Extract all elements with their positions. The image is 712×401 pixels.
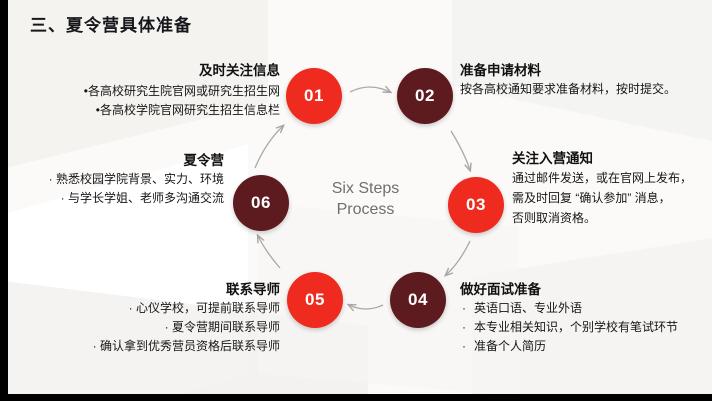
step-block-02: 准备申请材料 按各高校通知要求准备材料，按时提交。 — [460, 62, 710, 99]
step-line: · 与学长学姐、老师多沟通交流 — [14, 189, 224, 208]
step-circle-05[interactable]: 05 — [287, 272, 343, 328]
step-line: •各高校学院官网研究生招生信息栏 — [28, 101, 280, 120]
step-block-05: 联系导师 · 心仪学校，可提前联系导师 · 夏令营期间联系导师 · 确认拿到优秀… — [22, 281, 280, 356]
slide-canvas: 三、夏令营具体准备 Six Steps Process 01 02 03 04 … — [8, 0, 712, 394]
step-heading-06: 夏令营 — [14, 152, 224, 170]
center-label: Six Steps Process — [303, 178, 428, 220]
step-heading-01: 及时关注信息 — [28, 62, 280, 80]
step-heading-02: 准备申请材料 — [460, 62, 710, 80]
step-circle-06[interactable]: 06 — [233, 175, 289, 231]
step-line: · 夏令营期间联系导师 — [22, 318, 280, 337]
step-line: 本专业相关知识，个别学校有笔试环节 — [460, 318, 712, 337]
step-circle-03[interactable]: 03 — [448, 177, 504, 233]
step-heading-04: 做好面试准备 — [460, 281, 712, 299]
step-heading-05: 联系导师 — [22, 281, 280, 299]
step-line: 英语口语、专业外语 — [460, 299, 712, 318]
step-block-01: 及时关注信息 •各高校研究生院官网或研究生招生网 •各高校学院官网研究生招生信息… — [28, 62, 280, 120]
step-line: 通过邮件发送，或在官网上发布， — [512, 168, 712, 188]
slide-title: 三、夏令营具体准备 — [30, 11, 192, 36]
center-label-line2: Process — [303, 199, 428, 220]
step-line: · 确认拿到优秀营员资格后联系导师 — [22, 337, 280, 356]
step-line: · 熟悉校园学院背景、实力、环境 — [14, 170, 224, 189]
step-circle-04[interactable]: 04 — [390, 272, 446, 328]
center-label-line1: Six Steps — [303, 178, 428, 199]
step-line: 准备个人简历 — [460, 337, 712, 356]
step-line: · 心仪学校，可提前联系导师 — [22, 299, 280, 318]
step-block-04: 做好面试准备 英语口语、专业外语 本专业相关知识，个别学校有笔试环节 准备个人简… — [460, 281, 712, 356]
step-line: 需及时回复 “确认参加” 消息， — [512, 188, 712, 208]
step-block-03: 关注入营通知 通过邮件发送，或在官网上发布， 需及时回复 “确认参加” 消息， … — [512, 150, 712, 228]
step-circle-02[interactable]: 02 — [397, 68, 453, 124]
step-heading-03: 关注入营通知 — [512, 150, 712, 168]
step-line: •各高校研究生院官网或研究生招生网 — [28, 82, 280, 101]
step-circle-01[interactable]: 01 — [286, 68, 342, 124]
step-block-06: 夏令营 · 熟悉校园学院背景、实力、环境 · 与学长学姐、老师多沟通交流 — [14, 152, 224, 208]
step-line: 否则取消资格。 — [512, 208, 712, 228]
step-line: 按各高校通知要求准备材料，按时提交。 — [460, 80, 710, 99]
